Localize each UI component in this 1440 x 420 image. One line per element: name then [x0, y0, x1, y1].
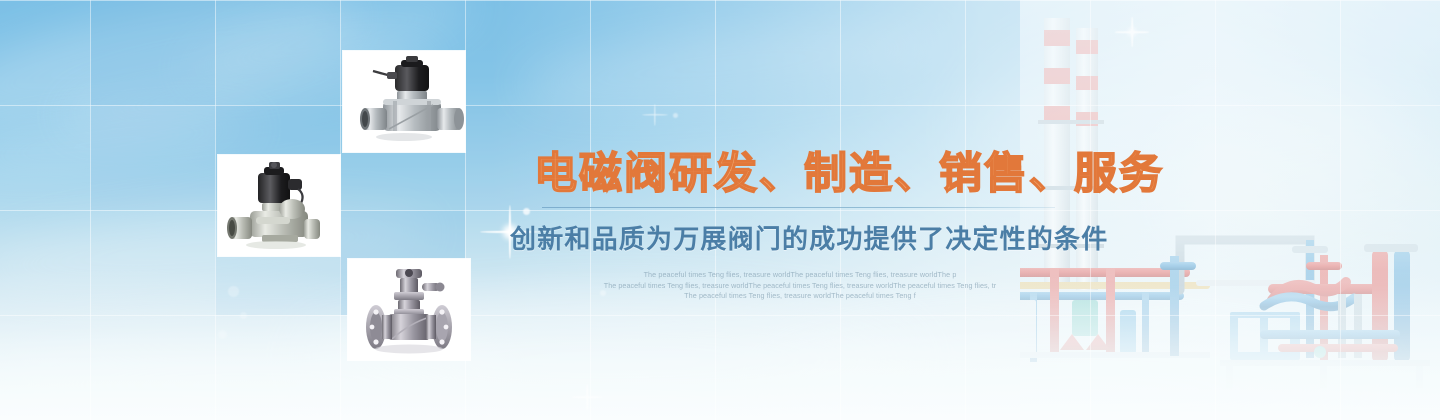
title-divider	[542, 207, 1055, 208]
blurb-line: The peaceful times Teng flies, treasure …	[500, 281, 1100, 292]
solenoid-valve-flanged-icon	[348, 259, 470, 360]
product-thumbnail-1[interactable]	[343, 51, 465, 152]
product-thumbnail-2[interactable]	[218, 155, 340, 256]
product-thumbnail-3[interactable]	[348, 259, 470, 360]
page-title: 电磁阀研发、制造、销售、服务	[500, 150, 1120, 198]
blurb-line: The peaceful times Teng flies, treasure …	[500, 291, 1100, 302]
page-subtitle: 创新和品质为万展阀门的成功提供了决定性的条件	[500, 219, 1120, 256]
blurb-line: The peaceful times Teng flies, treasure …	[500, 270, 1100, 281]
blurb-paragraph: The peaceful times Teng flies, treasure …	[500, 270, 1100, 302]
solenoid-valve-threaded-left-icon	[218, 155, 340, 256]
solenoid-valve-threaded-top-icon	[343, 51, 465, 152]
hero-banner: 电磁阀研发、制造、销售、服务 创新和品质为万展阀门的成功提供了决定性的条件 Th…	[0, 0, 1440, 420]
hero-text-block: 电磁阀研发、制造、销售、服务 创新和品质为万展阀门的成功提供了决定性的条件 Th…	[500, 150, 1120, 302]
